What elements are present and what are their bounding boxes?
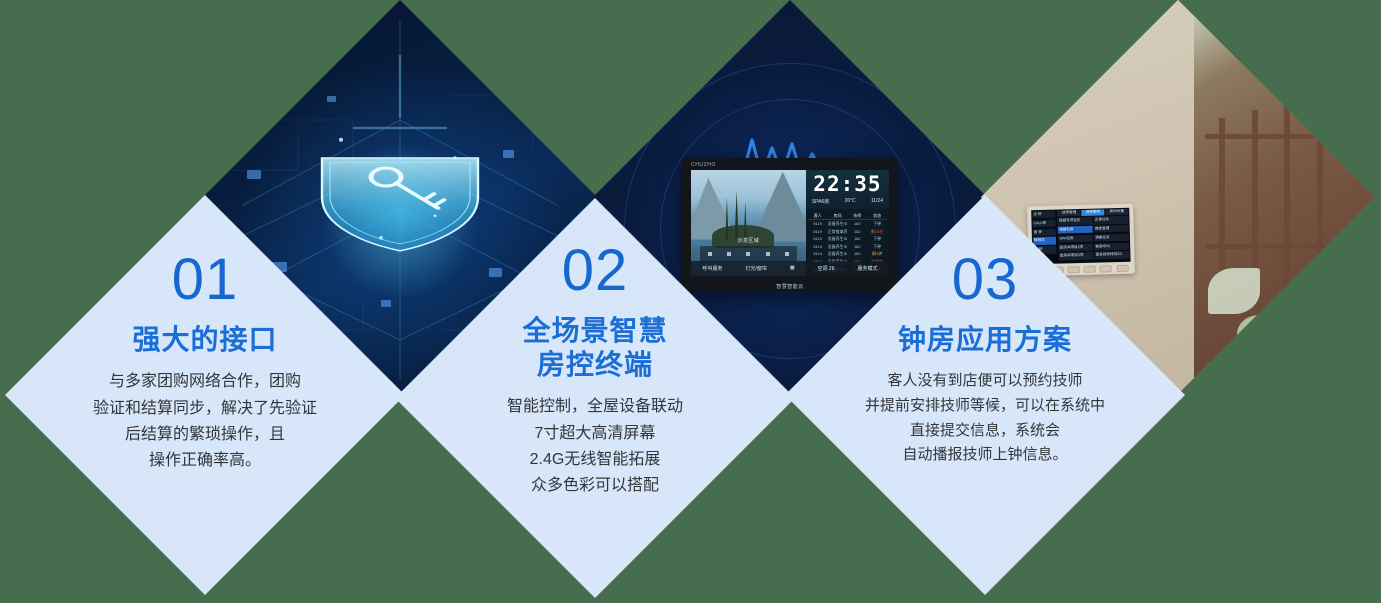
- media-next-icon[interactable]: [746, 252, 750, 256]
- tablet-brand: CHUZHO: [691, 162, 716, 168]
- panel-button-6[interactable]: [1117, 265, 1129, 272]
- left-item-0[interactable]: 保健专项目价: [1058, 217, 1093, 225]
- shield-lock-icon: [285, 88, 515, 298]
- media-control-bar[interactable]: [700, 246, 796, 262]
- tablet-logo: 智慧智能云: [682, 283, 898, 290]
- left-item-2[interactable]: SPA包房: [1059, 234, 1094, 242]
- right-item-0[interactable]: 正常任务: [1094, 216, 1129, 224]
- clock-widget: 22:35 SPA6房 26℃ 11/24: [806, 170, 889, 209]
- card-body-line: 后结算的繁琐操作，且: [93, 422, 317, 448]
- card-number: 03: [952, 251, 1019, 309]
- tablet-bottom-bar[interactable]: 呼叫服务 灯光/窗帘 ▩ 空调 26 服务模式: [691, 261, 889, 276]
- card-body-line: 与多家团购网络合作，团购: [93, 369, 317, 395]
- promo-banner: CHUZHO 沙发区域: [0, 0, 1381, 603]
- panel-button-5[interactable]: [1100, 265, 1112, 272]
- side-item-3[interactable]: 转钟区: [1033, 237, 1057, 245]
- panel-col-left[interactable]: 保健专项目价 保健包房 SPA包房 查房间项目2项 查房间项目3项: [1058, 217, 1094, 262]
- card-title-line: 全场景智慧: [522, 314, 667, 348]
- table-row: 8119 设备养生SPA 182 下钟: [808, 235, 887, 243]
- col-tech: 技师: [847, 212, 867, 220]
- zone-label: 沙发区域: [737, 237, 759, 244]
- left-item-3[interactable]: 查房间项目2项: [1059, 243, 1094, 251]
- card-body: 与多家团购网络合作，团购 验证和结算同步，解决了先验证 后结算的繁琐操作，且 操…: [93, 369, 317, 475]
- table-header: 客人 房间 技师 状态: [808, 212, 887, 221]
- side-item-2[interactable]: 面 钟: [1033, 228, 1057, 236]
- card-title: 强大的接口: [132, 323, 277, 357]
- left-item-1[interactable]: 保健包房: [1058, 226, 1093, 234]
- clock-time: 22:35: [810, 175, 885, 195]
- right-item-3[interactable]: 客房呼叫: [1095, 242, 1130, 250]
- col-room: 房间: [828, 212, 848, 220]
- panel-button-3[interactable]: [1068, 266, 1080, 273]
- panel-button-4[interactable]: [1084, 265, 1096, 272]
- tab-0[interactable]: 技师管理: [1058, 210, 1081, 216]
- table-row: 8119 正骨推拿养生SPA 182 剩15分: [808, 228, 887, 236]
- btn-call-service[interactable]: 呼叫服务: [702, 265, 722, 272]
- card-body-line: 2.4G无线智能拓展: [507, 447, 683, 473]
- card-number: 02: [562, 242, 629, 300]
- card-body-line: 客人没有到店便可以预约技师: [865, 369, 1105, 394]
- tab-1[interactable]: 技师服务: [1082, 209, 1105, 215]
- smart-control-tablet[interactable]: CHUZHO 沙发区域: [682, 158, 898, 292]
- apps-grid-icon[interactable]: ▩: [790, 265, 795, 271]
- media-play-icon[interactable]: [727, 252, 731, 256]
- card-body: 客人没有到店便可以预约技师 并提前安排技师等候，可以在系统中 直接提交信息，系统…: [865, 369, 1105, 468]
- media-volume-icon[interactable]: [766, 252, 770, 256]
- card-body-line: 验证和结算同步，解决了先验证: [93, 396, 317, 422]
- temperature-label: 26℃: [844, 198, 855, 204]
- btn-aircon[interactable]: 空调 26: [818, 265, 835, 272]
- right-item-1[interactable]: 推拿管理: [1094, 225, 1129, 233]
- card-title-line: 房控终端: [522, 348, 667, 382]
- media-prev-icon[interactable]: [708, 252, 712, 256]
- card-body-line: 7寸超大高清屏幕: [507, 421, 683, 447]
- card-title: 全场景智慧 房控终端: [522, 314, 667, 382]
- panel-tabs[interactable]: 技师管理 技师服务 房间设置: [1058, 209, 1129, 217]
- right-item-2[interactable]: 预期任务: [1094, 233, 1129, 241]
- tab-2[interactable]: 房间设置: [1106, 209, 1129, 215]
- card-body-line: 众多色彩可以搭配: [507, 473, 683, 499]
- table-row: 8119 设备养生SPA 182 下钟: [808, 220, 887, 228]
- col-guest: 客人: [808, 212, 828, 220]
- card-number: 01: [172, 251, 239, 309]
- card-body-line: 操作正确率高。: [93, 448, 317, 474]
- card-title: 钟房应用方案: [898, 323, 1072, 357]
- card-body: 智能控制，全屋设备联动 7寸超大高清屏幕 2.4G无线智能拓展 众多色彩可以搭配: [507, 394, 683, 500]
- card-title-line: 强大的接口: [132, 323, 277, 357]
- room-label: SPA6房: [812, 198, 829, 205]
- card-body-line: 并提前安排技师等候，可以在系统中: [865, 394, 1105, 419]
- side-item-0[interactable]: 点 钟: [1032, 211, 1056, 219]
- card-body-line: 智能控制，全屋设备联动: [507, 394, 683, 420]
- panel-col-right[interactable]: 正常任务 推拿管理 预期任务 客房呼叫 更多技师排班2/2: [1094, 216, 1130, 261]
- card-title-line: 钟房应用方案: [898, 323, 1072, 357]
- window-view: [1194, 0, 1375, 394]
- date-label: 11/24: [871, 198, 883, 204]
- panel-main[interactable]: 技师管理 技师服务 房间设置 保健专项目价 保健包房 SPA包房 查房间项目2项…: [1057, 208, 1131, 264]
- card-body-line: 直接提交信息，系统会: [865, 419, 1105, 444]
- col-status: 状态: [867, 212, 887, 220]
- table-row: 8119 设备养生SPA 182 剩3钟: [808, 250, 887, 258]
- btn-service-mode[interactable]: 服务模式: [857, 265, 877, 272]
- table-row: 8119 设备养生SPA 182 下钟: [808, 243, 887, 251]
- card-body-line: 自动播报技师上钟信息。: [865, 443, 1105, 468]
- btn-light-curtain[interactable]: 灯光/窗帘: [745, 265, 766, 272]
- media-list-icon[interactable]: [785, 252, 789, 256]
- side-item-1[interactable]: CALL钟: [1033, 219, 1057, 227]
- right-item-4[interactable]: 更多技师排班2/2: [1095, 251, 1130, 259]
- panel-screen[interactable]: 点 钟 CALL钟 面 钟 转钟区 选 钟 技师管理 技师服务 房间设置 保健专…: [1031, 208, 1130, 265]
- left-item-4[interactable]: 查房间项目3项: [1059, 252, 1094, 260]
